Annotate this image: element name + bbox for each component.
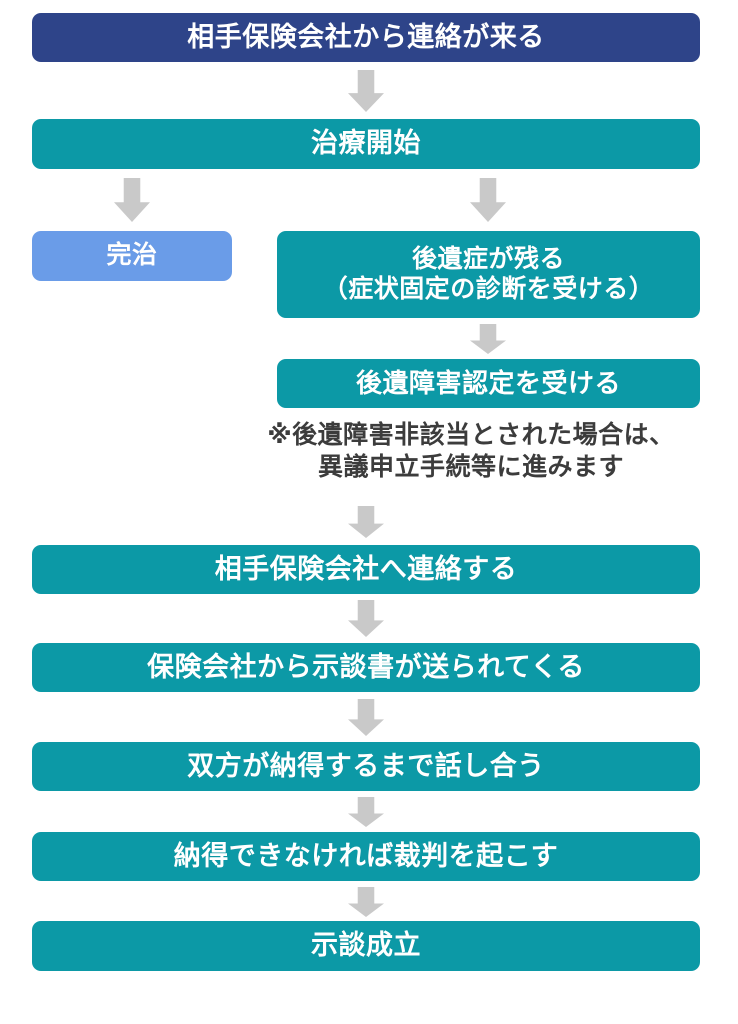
node-contact-from-insurer-label-line: 相手保険会社から連絡が来る [187,22,545,54]
arrow-treatment-to-aftereffects-icon [470,178,506,222]
node-discuss-until-agreed-label-line: 双方が納得するまで話し合う [187,751,545,783]
node-contact-from-insurer-label: 相手保険会社から連絡が来る [187,22,545,54]
node-aftereffects-remain-label-line: 後遺症が残る [323,245,655,275]
node-contact-from-insurer[interactable]: 相手保険会社から連絡が来る [32,13,700,62]
node-aftereffects-remain-label-line: （症状固定の診断を受ける） [323,275,655,305]
note-non-applicable: ※後遺障害非該当とされた場合は、異議申立手続等に進みます [236,419,706,483]
node-disability-certification-label-line: 後遺障害認定を受ける [356,368,621,399]
arrow-discuss-to-lawsuit-icon [348,797,384,827]
node-discuss-until-agreed-label: 双方が納得するまで話し合う [187,751,545,783]
arrow-note-to-contact-icon [348,506,384,538]
node-settlement-doc-sent[interactable]: 保険会社から示談書が送られてくる [32,643,700,692]
node-disability-certification[interactable]: 後遺障害認定を受ける [277,359,700,408]
node-disability-certification-label: 後遺障害認定を受ける [356,368,621,399]
node-settlement-concluded[interactable]: 示談成立 [32,921,700,971]
arrow-treatment-to-recovery-icon [114,178,150,222]
node-treatment-start-label-line: 治療開始 [311,128,421,160]
arrow-document-to-discuss-icon [348,699,384,736]
node-file-lawsuit[interactable]: 納得できなければ裁判を起こす [32,832,700,881]
node-full-recovery-label: 完治 [106,241,157,271]
node-settlement-doc-sent-label-line: 保険会社から示談書が送られてくる [147,652,585,684]
node-settlement-doc-sent-label: 保険会社から示談書が送られてくる [147,652,585,684]
node-discuss-until-agreed[interactable]: 双方が納得するまで話し合う [32,742,700,791]
note-non-applicable-line: ※後遺障害非該当とされた場合は、 [236,419,706,451]
node-contact-insurer-label: 相手保険会社へ連絡する [215,554,518,586]
node-file-lawsuit-label: 納得できなければ裁判を起こす [174,841,558,873]
arrow-lawsuit-to-settlement-icon [348,887,384,917]
arrow-start-to-treatment-icon [348,70,384,112]
note-non-applicable-line: 異議申立手続等に進みます [236,451,706,483]
node-full-recovery[interactable]: 完治 [32,231,232,281]
node-aftereffects-remain[interactable]: 後遺症が残る（症状固定の診断を受ける） [277,231,700,318]
flowchart-canvas: 相手保険会社から連絡が来る治療開始完治後遺症が残る（症状固定の診断を受ける）後遺… [0,0,738,1024]
node-treatment-start-label: 治療開始 [311,128,421,160]
node-file-lawsuit-label-line: 納得できなければ裁判を起こす [174,841,558,873]
node-contact-insurer[interactable]: 相手保険会社へ連絡する [32,545,700,594]
node-aftereffects-remain-label: 後遺症が残る（症状固定の診断を受ける） [323,245,655,304]
arrow-aftereffects-to-certification-icon [470,324,506,354]
arrow-contact-to-document-icon [348,600,384,637]
node-settlement-concluded-label-line: 示談成立 [311,930,421,962]
node-full-recovery-label-line: 完治 [106,241,157,271]
node-contact-insurer-label-line: 相手保険会社へ連絡する [215,554,518,586]
node-treatment-start[interactable]: 治療開始 [32,119,700,169]
node-settlement-concluded-label: 示談成立 [311,930,421,962]
